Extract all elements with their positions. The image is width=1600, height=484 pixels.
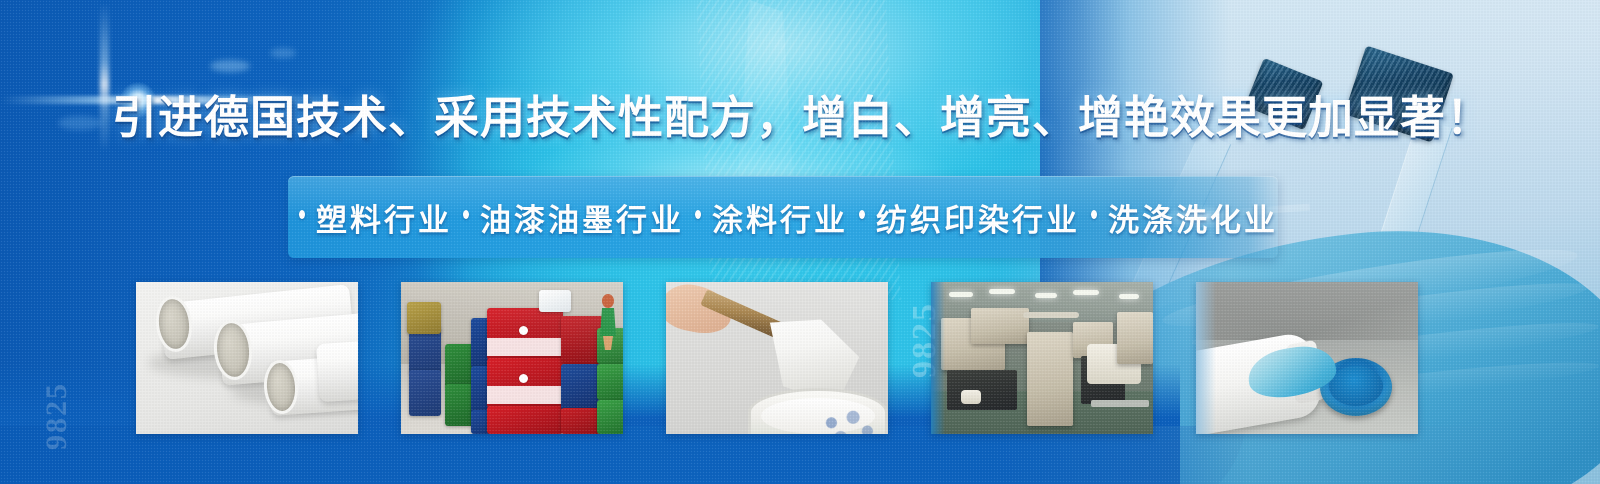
bullet-dot-icon bbox=[695, 210, 701, 219]
product-photo-strip bbox=[136, 282, 1466, 434]
industry-item-detergent[interactable]: 洗涤洗化业 bbox=[1108, 195, 1278, 240]
photo-textile-machinery[interactable] bbox=[931, 282, 1153, 434]
paint-can bbox=[748, 388, 888, 434]
banner-headline: 引进德国技术、采用技术性配方，增白、增亮、增艳效果更加显著！ bbox=[112, 88, 1252, 148]
photo-detergent-pour[interactable] bbox=[1196, 282, 1418, 434]
industry-item-textile-dyeing[interactable]: 纺织印染行业 bbox=[876, 195, 1080, 240]
industry-item-coatings[interactable]: 涂料行业 bbox=[712, 195, 848, 240]
can-decoration bbox=[819, 409, 881, 434]
pipe-body bbox=[316, 340, 358, 402]
photo-paint-stirring[interactable] bbox=[666, 282, 888, 434]
bullet-dot-icon bbox=[299, 210, 305, 219]
photo-pvc-pipes[interactable] bbox=[136, 282, 358, 434]
industries-list: 塑料行业 油漆油墨行业 涂料行业 纺织印染行业 洗涤洗化业 bbox=[288, 176, 1278, 258]
cap-liquid bbox=[1329, 366, 1383, 406]
promo-banner: 引进德国技术、采用技术性配方，增白、增亮、增艳效果更加显著！ 塑料行业 油漆油墨… bbox=[0, 0, 1600, 484]
bullet-dot-icon bbox=[463, 210, 469, 219]
industries-bar: 塑料行业 油漆油墨行业 涂料行业 纺织印染行业 洗涤洗化业 bbox=[288, 176, 1278, 258]
bullet-dot-icon bbox=[859, 210, 865, 219]
bullet-dot-icon bbox=[1091, 210, 1097, 219]
industry-item-paint-ink[interactable]: 油漆油墨行业 bbox=[480, 195, 684, 240]
watermark-text-secondary: 9825 bbox=[40, 382, 74, 450]
industry-item-plastics[interactable]: 塑料行业 bbox=[316, 195, 452, 240]
photo-paint-cans[interactable] bbox=[401, 282, 623, 434]
background-bottom-bar bbox=[0, 426, 1600, 484]
mascot-figure-icon bbox=[597, 292, 619, 350]
